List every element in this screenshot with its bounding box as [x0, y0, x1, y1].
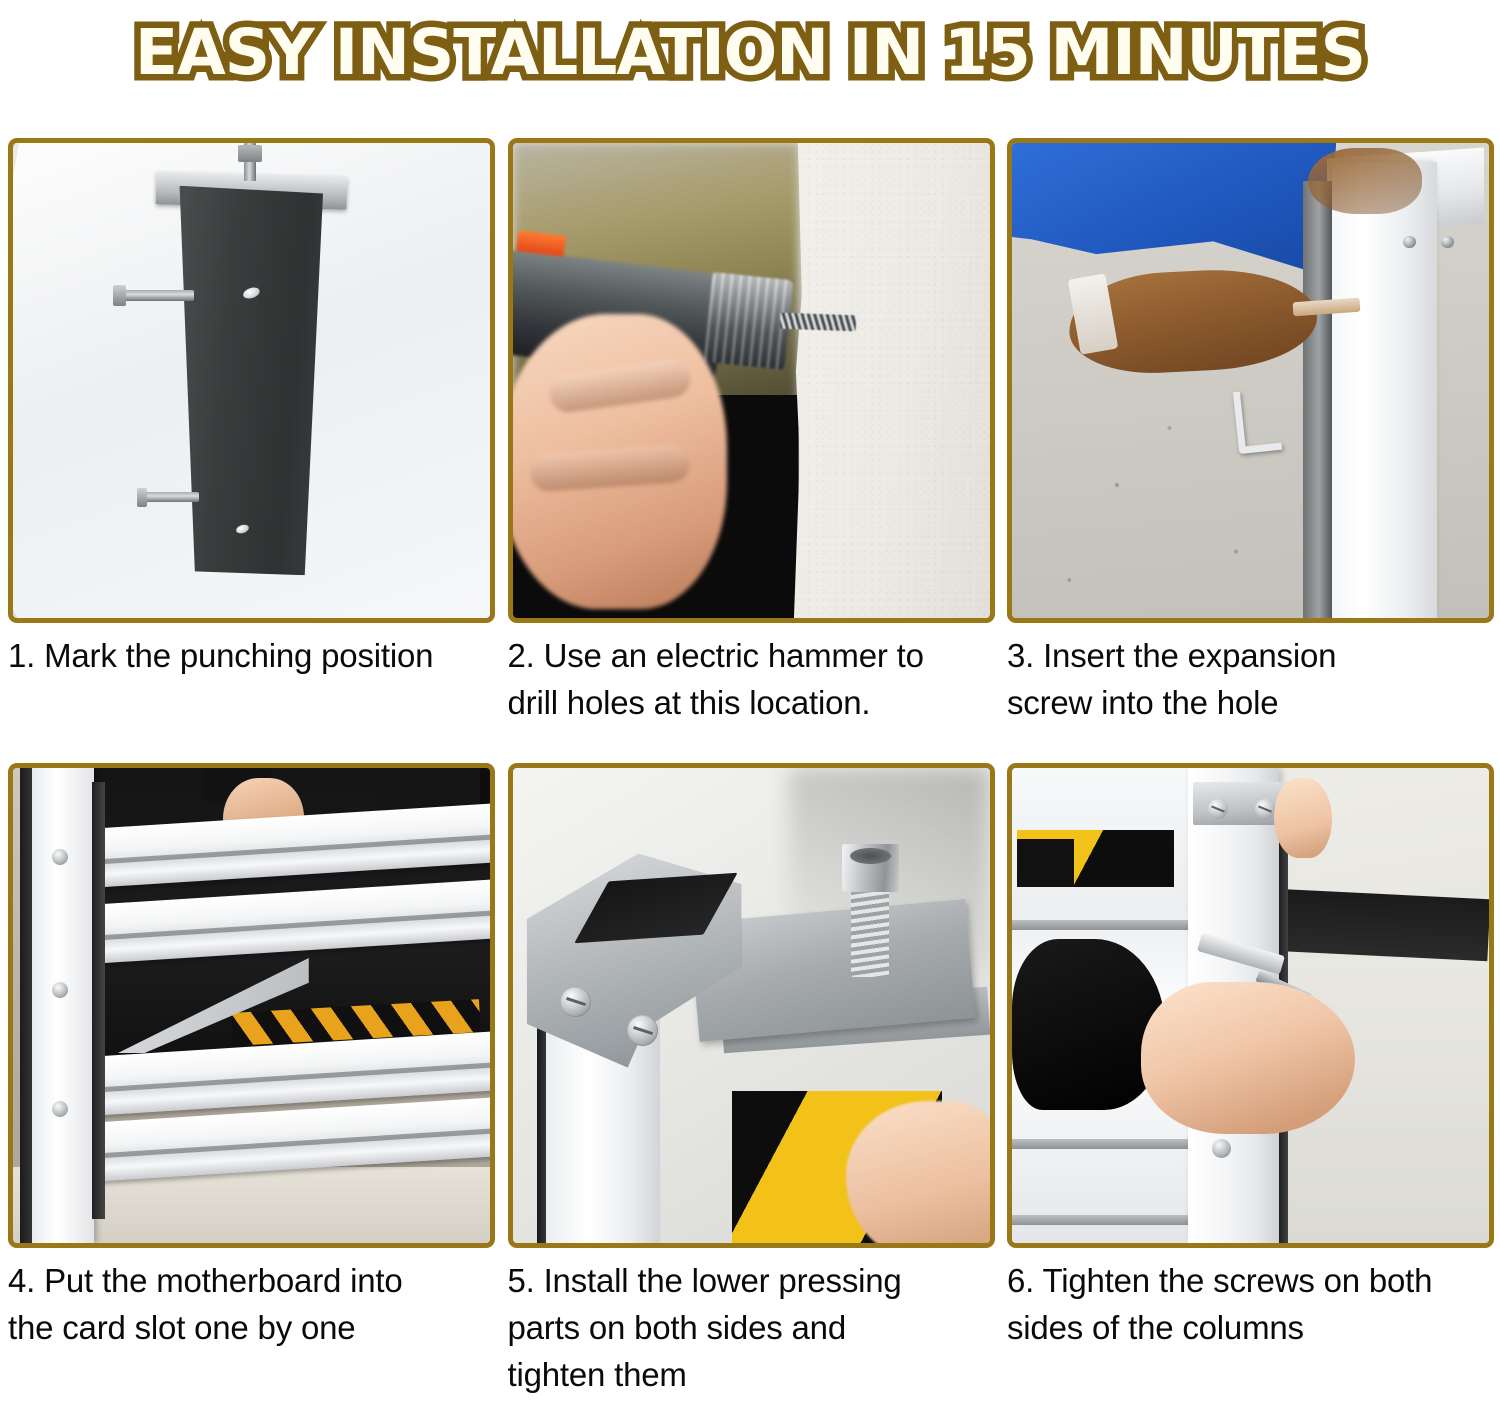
step-4-caption: 4. Put the motherboard into the card slo… [8, 1248, 495, 1352]
step-6-photo-cell [1007, 763, 1494, 1248]
worker-upper-hand [1308, 148, 1422, 215]
lower-anchor-rod [137, 492, 199, 502]
step-6-photo-frame [1007, 763, 1494, 1248]
caption-line: drill holes at this location. [508, 680, 995, 727]
white-textured-wall [794, 143, 990, 618]
step-3-photo-frame [1007, 138, 1494, 623]
installation-steps-grid: 1. Mark the punching position 2. Use an … [8, 138, 1494, 1396]
black-sleeve [1012, 939, 1165, 1110]
step-2-photo-frame [508, 138, 995, 623]
threaded-screw-shaft [851, 887, 889, 977]
page-title-banner: EASY INSTALLATION IN 15 MINUTES [0, 4, 1500, 100]
caption-line: 6. Tighten the screws on both [1007, 1258, 1494, 1305]
caption-line: screw into the hole [1007, 680, 1494, 727]
step-1-caption-cell: 1. Mark the punching position [8, 623, 495, 763]
step-2-caption: 2. Use an electric hammer to drill holes… [508, 623, 995, 727]
column-bolt-lower [1441, 236, 1453, 248]
step-4-photo-frame [8, 763, 495, 1248]
panel-groove [1012, 1139, 1203, 1149]
column-slot-gap [92, 782, 104, 1219]
caption-line: 1. Mark the punching position [8, 633, 495, 680]
installation-guide-page: EASY INSTALLATION IN 15 MINUTES [0, 0, 1500, 1403]
step-1-photo-cell [8, 138, 495, 623]
top-stud-head [238, 145, 263, 162]
step-2-photo-cell [508, 138, 995, 623]
column-dark-edge [1303, 181, 1332, 618]
drill-bit [779, 313, 856, 332]
marking-punching-position-photo [13, 143, 490, 618]
steel-mounting-plate [170, 186, 323, 576]
drilling-holes-photo [513, 143, 990, 618]
white-column [32, 768, 94, 1243]
caption-line: 2. Use an electric hammer to [508, 633, 995, 680]
step-3-caption: 3. Insert the expansion screw into the h… [1007, 623, 1494, 727]
step-5-photo-frame [508, 763, 995, 1248]
worker-hand [1141, 982, 1356, 1134]
inserting-expansion-screw-photo [1012, 143, 1489, 618]
column-bolt-upper [1403, 236, 1415, 248]
column-screw [52, 1101, 68, 1117]
caption-line: 4. Put the motherboard into [8, 1258, 495, 1305]
white-column [1332, 162, 1437, 618]
caption-line: 3. Insert the expansion [1007, 633, 1494, 680]
step-4-caption-cell: 4. Put the motherboard into the card slo… [8, 1248, 495, 1396]
column-screw [1208, 799, 1228, 819]
step-1-photo-frame [8, 138, 495, 623]
caption-line: the card slot one by one [8, 1305, 495, 1352]
step-3-photo-cell [1007, 138, 1494, 623]
tightening-column-screws-photo [1012, 768, 1489, 1243]
step-3-caption-cell: 3. Insert the expansion screw into the h… [1007, 623, 1494, 763]
step-2-caption-cell: 2. Use an electric hammer to drill holes… [508, 623, 995, 763]
hazard-stripe-black [1017, 839, 1074, 887]
allen-key-icon [1233, 388, 1282, 454]
step-5-caption-cell: 5. Install the lower pressing parts on b… [508, 1248, 995, 1396]
caption-line: 5. Install the lower pressing [508, 1258, 995, 1305]
operator-hand [513, 314, 728, 609]
upper-anchor-rod [113, 290, 194, 301]
panel-groove [1012, 1215, 1203, 1225]
step-1-caption: 1. Mark the punching position [8, 623, 495, 680]
caption-line: sides of the columns [1007, 1305, 1494, 1352]
motherboard-card-slot-photo [13, 768, 490, 1243]
bracket-bolt [627, 1015, 658, 1046]
step-6-caption: 6. Tighten the screws on both sides of t… [1007, 1248, 1494, 1352]
step-4-photo-cell [8, 763, 495, 1248]
screw-head [842, 844, 899, 892]
step-5-photo-cell [508, 763, 995, 1248]
caption-line: parts on both sides and [508, 1305, 995, 1352]
column-screw [1255, 799, 1275, 819]
page-title: EASY INSTALLATION IN 15 MINUTES [135, 21, 1365, 84]
step-6-caption-cell: 6. Tighten the screws on both sides of t… [1007, 1248, 1494, 1396]
lower-pressing-parts-photo [513, 768, 990, 1243]
panel-groove [1012, 920, 1203, 930]
caption-line: tighten them [508, 1352, 995, 1399]
step-5-caption: 5. Install the lower pressing parts on b… [508, 1248, 995, 1399]
supporting-hand [1274, 778, 1331, 859]
column-screw [1212, 1139, 1231, 1158]
